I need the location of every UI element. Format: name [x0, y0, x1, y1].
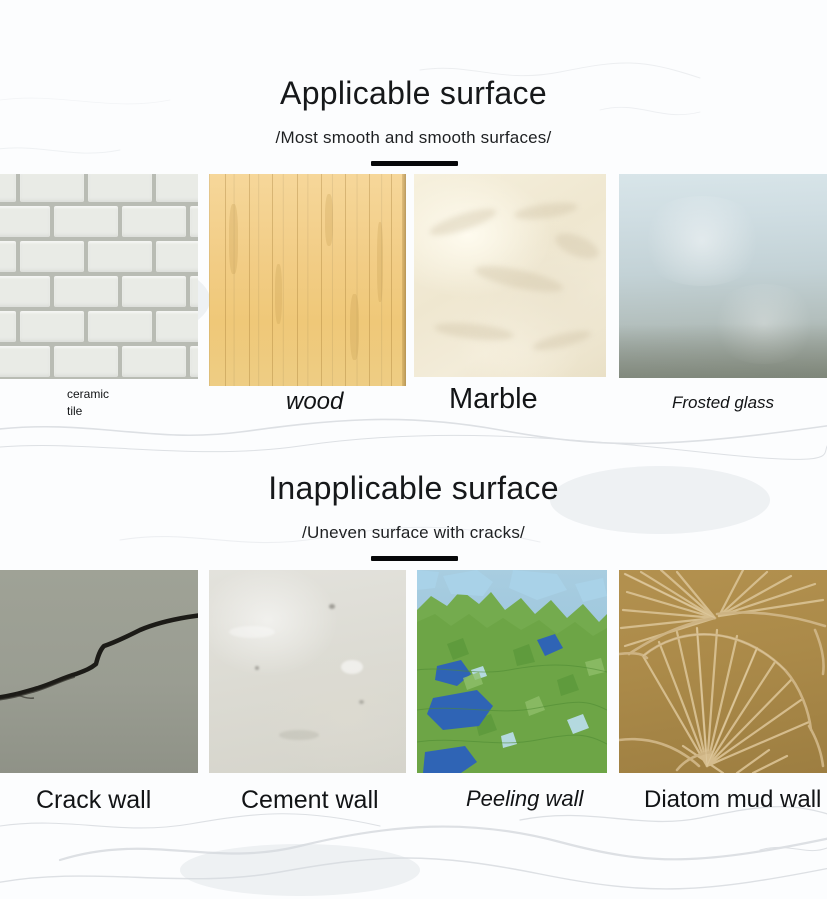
label-ceramic-tile: ceramic tile	[67, 386, 109, 420]
marble-swatch[interactable]	[414, 174, 606, 377]
section-subtitle-inapplicable: /Uneven surface with cracks/	[0, 523, 827, 543]
label-crack-wall: Crack wall	[36, 786, 151, 815]
crack-line	[0, 570, 198, 773]
section-subtitle-applicable: /Most smooth and smooth surfaces/	[0, 128, 827, 148]
label-ceramic-tile-line2: tile	[67, 404, 82, 418]
peeling-paint-texture	[417, 570, 607, 773]
fan-crack-pattern	[619, 570, 827, 773]
label-cement-wall: Cement wall	[241, 786, 379, 815]
diatom-mud-wall-swatch[interactable]	[619, 570, 827, 773]
label-marble: Marble	[449, 383, 538, 416]
peeling-wall-swatch[interactable]	[417, 570, 607, 773]
wood-swatch[interactable]	[209, 174, 406, 386]
label-diatom-mud-wall: Diatom mud wall	[644, 786, 821, 814]
divider-bar-inapplicable	[371, 556, 458, 561]
cement-wall-swatch[interactable]	[209, 570, 406, 773]
crack-wall-swatch[interactable]	[0, 570, 198, 773]
ceramic-tile-swatch[interactable]	[0, 174, 198, 379]
divider-bar-applicable	[371, 161, 458, 166]
label-peeling-wall: Peeling wall	[466, 786, 583, 812]
label-ceramic-tile-line1: ceramic	[67, 387, 109, 401]
label-frosted-glass: Frosted glass	[672, 393, 774, 413]
label-wood: wood	[286, 388, 343, 416]
section-title-inapplicable: Inapplicable surface	[0, 470, 827, 507]
frosted-glass-swatch[interactable]	[619, 174, 827, 378]
section-title-applicable: Applicable surface	[0, 75, 827, 112]
